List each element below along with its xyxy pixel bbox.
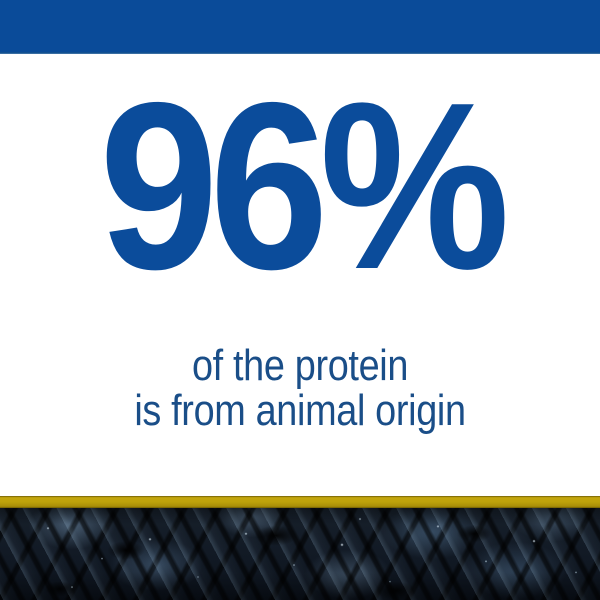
gold-separator-band — [0, 496, 600, 508]
content-area: 96% of the protein is from animal origin — [0, 54, 600, 496]
stat-block: 96% — [0, 94, 600, 280]
fish-scale-photo-strip — [0, 508, 600, 600]
top-blue-band — [0, 0, 600, 54]
caption-line-1: of the protein — [42, 344, 558, 389]
stat-percentage-value: 96% — [99, 94, 501, 280]
caption-block: of the protein is from animal origin — [0, 344, 600, 434]
photo-vignette — [0, 508, 600, 600]
infographic-poster: 96% of the protein is from animal origin — [0, 0, 600, 600]
caption-line-2: is from animal origin — [42, 389, 558, 434]
